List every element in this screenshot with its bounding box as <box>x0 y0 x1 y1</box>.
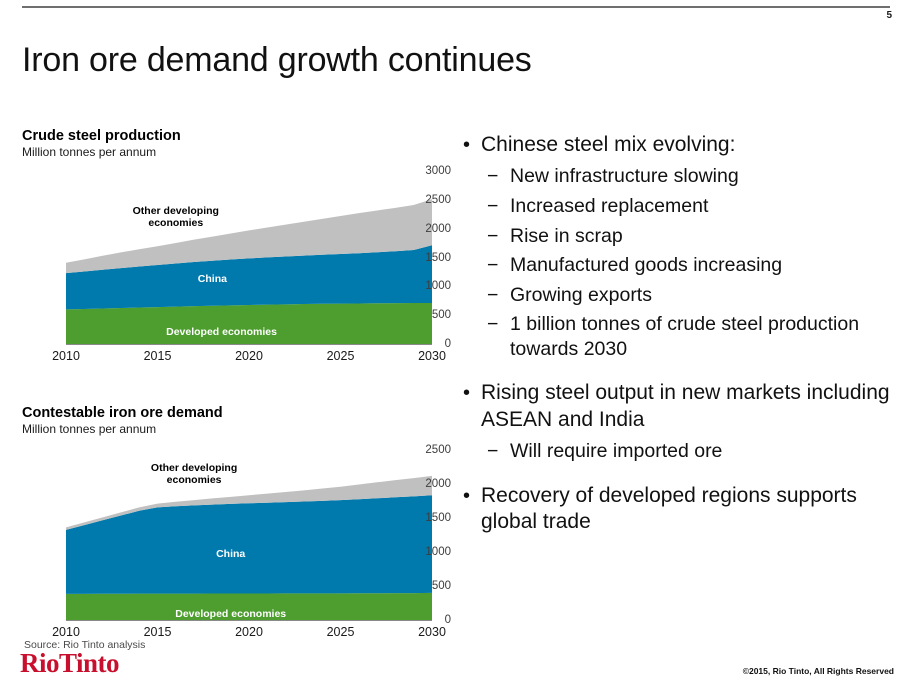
chart-plot-area: 0500100015002000250030002010201520202025… <box>0 159 455 391</box>
bullet-text: Chinese steel mix evolving: <box>481 133 735 156</box>
y-axis-tick: 1500 <box>391 252 451 264</box>
bullet-text: Recovery of developed regions supports g… <box>481 484 857 533</box>
bullet-dash-icon: − <box>487 224 498 249</box>
bullet-text: Growing exports <box>510 284 652 306</box>
x-axis-line <box>66 344 432 345</box>
x-axis-tick: 2025 <box>327 349 355 363</box>
bullet-list: •Chinese steel mix evolving:−New infrast… <box>455 132 905 542</box>
bullet-dash-icon: − <box>487 283 498 308</box>
bullet-text: Rise in scrap <box>510 225 623 247</box>
y-axis-tick: 2500 <box>391 444 451 456</box>
x-axis-tick: 2030 <box>418 349 446 363</box>
y-axis-tick: 1000 <box>391 546 451 558</box>
series-area-china <box>66 495 432 594</box>
bullet-spacer <box>455 366 905 380</box>
bullet-dash-icon: − <box>487 253 498 278</box>
x-axis-tick: 2030 <box>418 625 446 639</box>
bullet-text: 1 billion tonnes of crude steel producti… <box>510 313 859 360</box>
x-axis-tick: 2010 <box>52 625 80 639</box>
y-axis-tick: 3000 <box>391 165 451 177</box>
charts-column: Crude steel production Million tonnes pe… <box>0 128 455 648</box>
x-axis-tick: 2015 <box>144 625 172 639</box>
sub-bullet-item: −1 billion tonnes of crude steel product… <box>455 312 905 361</box>
chart-subtitle: Million tonnes per annum <box>22 422 455 436</box>
bullet-item: •Chinese steel mix evolving: <box>455 132 905 158</box>
bullet-dash-icon: − <box>487 439 498 464</box>
series-label: Other developingeconomies <box>133 205 219 229</box>
x-axis-tick: 2015 <box>144 349 172 363</box>
bullet-text: Will require imported ore <box>510 440 722 462</box>
x-axis-tick: 2025 <box>327 625 355 639</box>
series-area-developed-economies <box>66 303 432 344</box>
page-number: 5 <box>886 10 892 21</box>
x-axis-line <box>66 620 432 621</box>
x-axis-tick: 2020 <box>235 625 263 639</box>
bullet-text: Manufactured goods increasing <box>510 254 782 276</box>
chart-plot-area: 0500100015002000250020102015202020252030… <box>0 436 455 648</box>
y-axis-tick: 2000 <box>391 478 451 490</box>
sub-bullet-item: −Manufactured goods increasing <box>455 253 905 278</box>
sub-bullet-item: −Rise in scrap <box>455 224 905 249</box>
x-axis-tick: 2020 <box>235 349 263 363</box>
y-axis-tick: 2000 <box>391 223 451 235</box>
chart-title: Contestable iron ore demand <box>22 405 455 422</box>
chart-subtitle: Million tonnes per annum <box>22 145 455 159</box>
series-label: China <box>198 273 227 285</box>
series-label: China <box>216 548 245 560</box>
sub-bullet-item: −New infrastructure slowing <box>455 164 905 189</box>
bullet-dash-icon: − <box>487 164 498 189</box>
page-title: Iron ore demand growth continues <box>22 41 532 80</box>
bullet-dot-icon: • <box>463 380 470 406</box>
bullet-dash-icon: − <box>487 312 498 337</box>
sub-bullet-item: −Will require imported ore <box>455 439 905 464</box>
y-axis-tick: 2500 <box>391 194 451 206</box>
slide: 5 Iron ore demand growth continues Crude… <box>0 0 910 683</box>
bullet-text: Increased replacement <box>510 195 708 217</box>
x-axis-tick: 2010 <box>52 349 80 363</box>
y-axis-tick: 500 <box>391 580 451 592</box>
bullet-item: •Recovery of developed regions supports … <box>455 483 905 536</box>
bullet-spacer <box>455 469 905 483</box>
chart-title: Crude steel production <box>22 128 455 145</box>
bullet-text: New infrastructure slowing <box>510 165 739 187</box>
bullet-dash-icon: − <box>487 194 498 219</box>
sub-bullet-item: −Growing exports <box>455 283 905 308</box>
series-label: Other developingeconomies <box>151 462 237 486</box>
chart-contestable-iron-ore-demand: Contestable iron ore demand Million tonn… <box>0 405 455 648</box>
bullet-text: Rising steel output in new markets inclu… <box>481 381 890 430</box>
copyright-note: ©2015, Rio Tinto, All Rights Reserved <box>743 666 894 676</box>
y-axis-tick: 500 <box>391 309 451 321</box>
y-axis-tick: 1000 <box>391 280 451 292</box>
header-rule <box>22 6 890 8</box>
sub-bullet-item: −Increased replacement <box>455 194 905 219</box>
bullet-dot-icon: • <box>463 132 470 158</box>
series-label: Developed economies <box>175 608 286 620</box>
chart-crude-steel-production: Crude steel production Million tonnes pe… <box>0 128 455 391</box>
bullet-dot-icon: • <box>463 483 470 509</box>
riotinto-logo: RioTinto <box>20 650 119 677</box>
series-label: Developed economies <box>166 326 277 338</box>
bullet-item: •Rising steel output in new markets incl… <box>455 380 905 433</box>
y-axis-tick: 1500 <box>391 512 451 524</box>
